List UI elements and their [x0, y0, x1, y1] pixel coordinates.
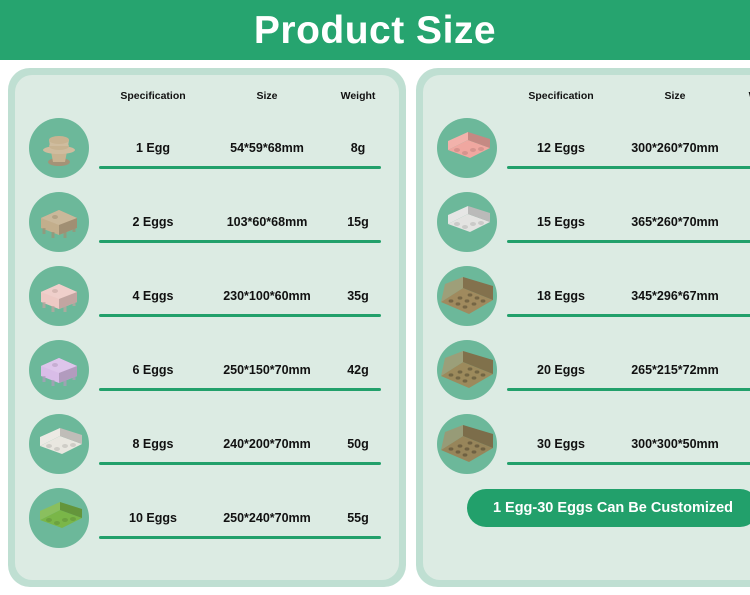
- right-column-header: Specification Size Weight: [429, 81, 750, 111]
- cell-weight: 90g: [735, 363, 750, 377]
- table-row: 2 Eggs 103*60*68mm 15g: [21, 185, 389, 259]
- row-cells: 8 Eggs 240*200*70mm 50g: [99, 407, 389, 481]
- left-panel: Specification Size Weight 1 Egg 54*59*68…: [8, 68, 406, 587]
- cell-weight: 80g: [735, 289, 750, 303]
- cell-specification: 10 Eggs: [99, 511, 207, 525]
- page-header: Product Size: [0, 0, 750, 60]
- cell-size: 230*100*60mm: [207, 289, 327, 303]
- cell-weight: 50g: [327, 437, 389, 451]
- table-row: 10 Eggs 250*240*70mm 55g: [21, 481, 389, 555]
- column-header-size: Size: [615, 90, 735, 102]
- table-row: 6 Eggs 250*150*70mm 42g: [21, 333, 389, 407]
- cell-weight: 55g: [327, 511, 389, 525]
- egg-carton-12-icon: [437, 118, 497, 178]
- table-row: 18 Eggs 345*296*67mm 80g: [429, 259, 750, 333]
- left-panel-inner: Specification Size Weight 1 Egg 54*59*68…: [15, 75, 399, 580]
- cell-specification: 18 Eggs: [507, 289, 615, 303]
- table-row: 30 Eggs 300*300*50mm 100g: [429, 407, 750, 481]
- table-row: 15 Eggs 365*260*70mm 75g: [429, 185, 750, 259]
- egg-tray-30-icon: [437, 414, 497, 474]
- row-cells: 20 Eggs 265*215*72mm 90g: [507, 333, 750, 407]
- cell-weight: 75g: [735, 215, 750, 229]
- product-size-infographic: Product Size Specification Size Weight 1…: [0, 0, 750, 595]
- row-divider: [99, 388, 381, 391]
- egg-cup-1-icon: [29, 118, 89, 178]
- row-divider: [99, 462, 381, 465]
- row-cells: 30 Eggs 300*300*50mm 100g: [507, 407, 750, 481]
- cell-size: 103*60*68mm: [207, 215, 327, 229]
- row-cells: 4 Eggs 230*100*60mm 35g: [99, 259, 389, 333]
- table-row: 8 Eggs 240*200*70mm 50g: [21, 407, 389, 481]
- column-header-size: Size: [207, 90, 327, 102]
- cell-size: 54*59*68mm: [207, 141, 327, 155]
- row-divider: [99, 166, 381, 169]
- right-panel-inner: Specification Size Weight 12 Eggs 300*26…: [423, 75, 750, 580]
- column-header-weight: Weight: [327, 90, 389, 102]
- cell-specification: 15 Eggs: [507, 215, 615, 229]
- row-cells: 15 Eggs 365*260*70mm 75g: [507, 185, 750, 259]
- egg-tray-20-icon: [437, 340, 497, 400]
- cell-specification: 20 Eggs: [507, 363, 615, 377]
- cell-specification: 8 Eggs: [99, 437, 207, 451]
- cell-size: 300*260*70mm: [615, 141, 735, 155]
- left-column-header: Specification Size Weight: [21, 81, 389, 111]
- cta-container: 1 Egg-30 Eggs Can Be Customized: [429, 489, 750, 527]
- row-cells: 10 Eggs 250*240*70mm 55g: [99, 481, 389, 555]
- egg-carton-4-icon: [29, 266, 89, 326]
- page-title: Product Size: [254, 11, 496, 50]
- panels-container: Specification Size Weight 1 Egg 54*59*68…: [0, 60, 750, 595]
- cell-size: 300*300*50mm: [615, 437, 735, 451]
- egg-carton-8-icon: [29, 414, 89, 474]
- cell-specification: 4 Eggs: [99, 289, 207, 303]
- row-cells: 2 Eggs 103*60*68mm 15g: [99, 185, 389, 259]
- row-cells: 6 Eggs 250*150*70mm 42g: [99, 333, 389, 407]
- egg-carton-10-icon: [29, 488, 89, 548]
- right-panel: Specification Size Weight 12 Eggs 300*26…: [416, 68, 750, 587]
- table-row: 20 Eggs 265*215*72mm 90g: [429, 333, 750, 407]
- row-divider: [507, 240, 750, 243]
- column-header-specification: Specification: [507, 90, 615, 102]
- row-divider: [507, 314, 750, 317]
- row-cells: 18 Eggs 345*296*67mm 80g: [507, 259, 750, 333]
- cell-size: 265*215*72mm: [615, 363, 735, 377]
- table-row: 12 Eggs 300*260*70mm 65g: [429, 111, 750, 185]
- table-row: 1 Egg 54*59*68mm 8g: [21, 111, 389, 185]
- cell-specification: 12 Eggs: [507, 141, 615, 155]
- cell-weight: 65g: [735, 141, 750, 155]
- egg-carton-15-icon: [437, 192, 497, 252]
- column-header-specification: Specification: [99, 90, 207, 102]
- row-cells: 1 Egg 54*59*68mm 8g: [99, 111, 389, 185]
- cell-weight: 100g: [735, 437, 750, 451]
- cell-weight: 35g: [327, 289, 389, 303]
- cell-size: 365*260*70mm: [615, 215, 735, 229]
- egg-tray-18-icon: [437, 266, 497, 326]
- right-rows: 12 Eggs 300*260*70mm 65g 15 Eggs 365*260…: [429, 111, 750, 481]
- cell-specification: 6 Eggs: [99, 363, 207, 377]
- customization-cta-button[interactable]: 1 Egg-30 Eggs Can Be Customized: [467, 489, 750, 527]
- table-row: 4 Eggs 230*100*60mm 35g: [21, 259, 389, 333]
- cell-size: 250*150*70mm: [207, 363, 327, 377]
- row-divider: [99, 314, 381, 317]
- row-divider: [507, 166, 750, 169]
- row-cells: 12 Eggs 300*260*70mm 65g: [507, 111, 750, 185]
- cell-weight: 15g: [327, 215, 389, 229]
- egg-carton-2-icon: [29, 192, 89, 252]
- cell-size: 250*240*70mm: [207, 511, 327, 525]
- cell-specification: 2 Eggs: [99, 215, 207, 229]
- row-divider: [99, 536, 381, 539]
- row-divider: [507, 462, 750, 465]
- cell-size: 240*200*70mm: [207, 437, 327, 451]
- cell-weight: 42g: [327, 363, 389, 377]
- row-divider: [99, 240, 381, 243]
- cell-weight: 8g: [327, 141, 389, 155]
- left-rows: 1 Egg 54*59*68mm 8g 2 Eggs 103*60*68mm 1…: [21, 111, 389, 555]
- column-header-weight: Weight: [735, 90, 750, 102]
- row-divider: [507, 388, 750, 391]
- egg-carton-6-icon: [29, 340, 89, 400]
- cell-specification: 30 Eggs: [507, 437, 615, 451]
- cell-size: 345*296*67mm: [615, 289, 735, 303]
- cell-specification: 1 Egg: [99, 141, 207, 155]
